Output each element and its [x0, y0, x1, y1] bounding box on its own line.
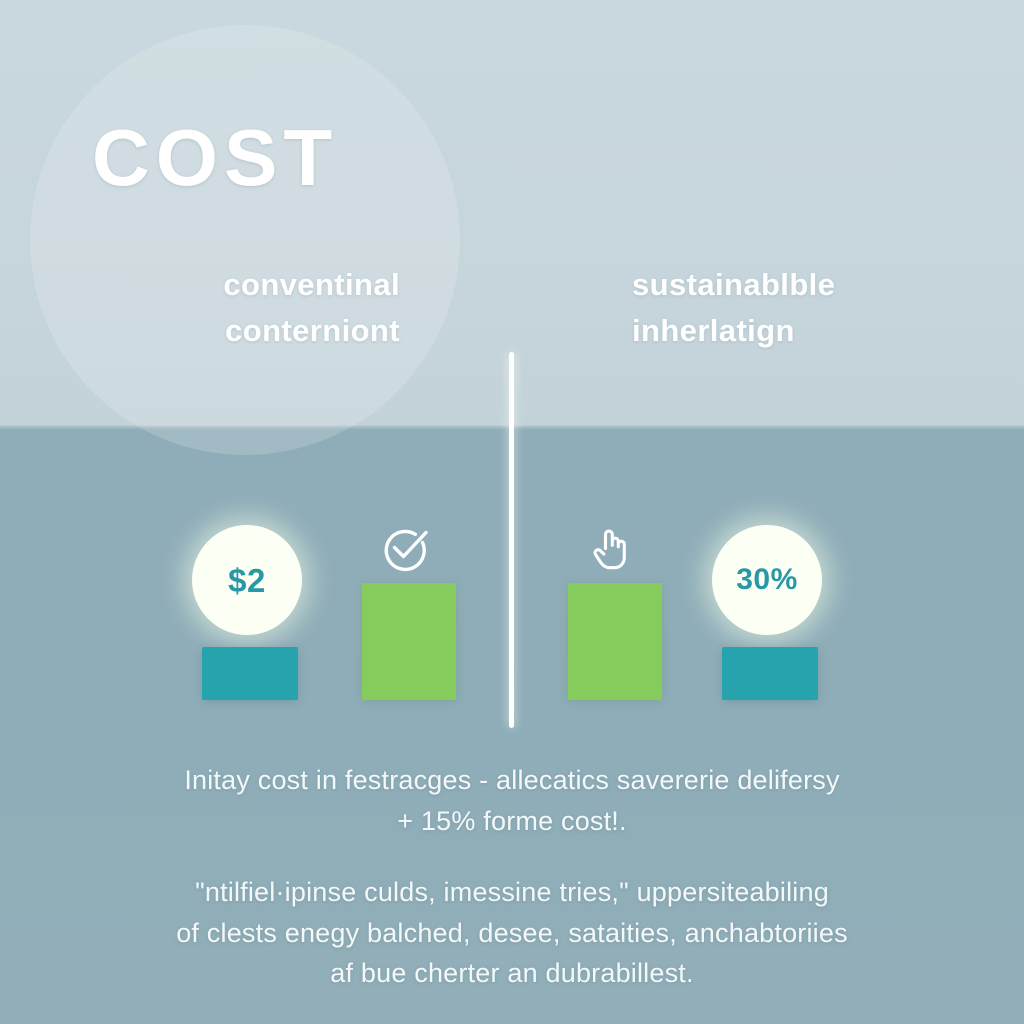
- caption-line: Initay cost in festracges - allecatics s…: [112, 760, 912, 801]
- bar-left-green: [362, 583, 456, 700]
- bar-right-green: [568, 583, 662, 700]
- saving-badge-value: 30%: [736, 565, 798, 595]
- caption-line: of clests enegy balched, desee, sataitie…: [112, 913, 912, 954]
- infographic-poster: COST conventinal conterniont sustainablb…: [0, 0, 1024, 1024]
- caption-line: af bue cherter an dubrabillest.: [112, 953, 912, 994]
- bar-left-teal: [202, 647, 298, 700]
- caption-paragraph-one: Initay cost in festracges - allecatics s…: [112, 760, 912, 841]
- check-circle-icon: [378, 522, 432, 576]
- pointing-hand-icon: [583, 521, 637, 575]
- cost-badge: $2: [192, 525, 302, 635]
- cost-badge-value: $2: [228, 564, 266, 597]
- caption-paragraph-two: "ntilfiel·ipinse culds, imessine tries,"…: [112, 872, 912, 994]
- chart-area: $2 30%: [0, 0, 1024, 1024]
- saving-badge: 30%: [712, 525, 822, 635]
- bar-right-teal: [722, 647, 818, 700]
- caption-line: "ntilfiel·ipinse culds, imessine tries,"…: [112, 872, 912, 913]
- caption-line: + 15% forme cost!.: [112, 801, 912, 842]
